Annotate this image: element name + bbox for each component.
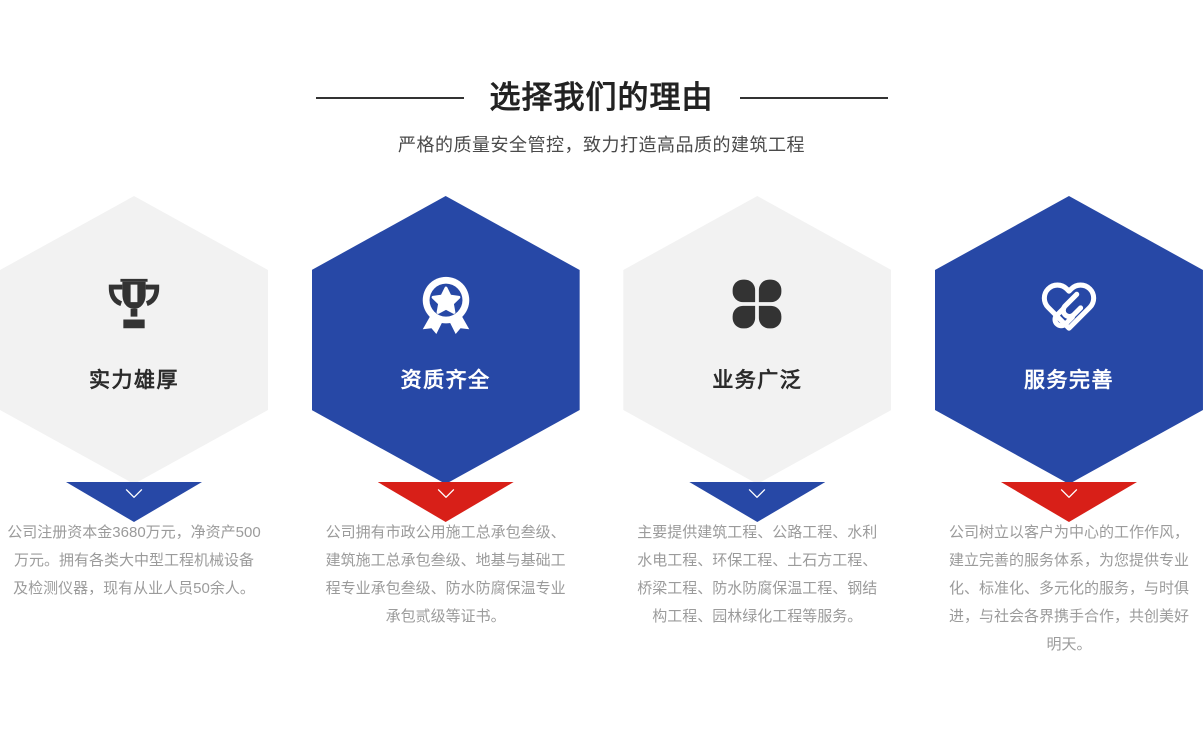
hexagon-wrapper-4: 服务完善: [935, 196, 1203, 484]
hexagon-wrapper-1: 实力雄厚: [0, 196, 268, 484]
title-rule-left: [316, 97, 464, 99]
chevron-down-icon: [747, 487, 767, 501]
feature-card-label: 资质齐全: [401, 364, 491, 394]
chevron-down-icon: [436, 487, 456, 501]
section-header: 选择我们的理由 严格的质量安全管控，致力打造高品质的建筑工程: [0, 74, 1203, 157]
feature-card-list: 实力雄厚: [0, 196, 1203, 484]
hexagon-wrapper-3: 业务广泛: [623, 196, 891, 484]
feature-card-label: 服务完善: [1024, 364, 1114, 394]
chevron-down-icon: [1059, 487, 1079, 501]
chevron-down-icon: [124, 487, 144, 501]
feature-description-4: 公司树立以客户为中心的工作作风，建立完善的服务体系，为您提供专业化、标准化、多元…: [942, 519, 1196, 659]
feature-description-list: 公司注册资本金3680万元，净资产500万元。拥有各类大中型工程机械设备及检测仪…: [0, 519, 1203, 659]
feature-description-3: 主要提供建筑工程、公路工程、水利水电工程、环保工程、土石方工程、桥梁工程、防水防…: [630, 519, 884, 631]
medal-star-icon: [400, 258, 492, 350]
feature-description-1: 公司注册资本金3680万元，净资产500万元。拥有各类大中型工程机械设备及检测仪…: [7, 519, 261, 603]
feature-description-2: 公司拥有市政公用施工总承包叁级、建筑施工总承包叁级、地基与基础工程专业承包叁级、…: [319, 519, 573, 631]
feature-card-2[interactable]: 资质齐全: [312, 196, 580, 484]
feature-card-3[interactable]: 业务广泛: [623, 196, 891, 484]
hexagon-1[interactable]: 实力雄厚: [0, 196, 268, 484]
clover-icon: [711, 258, 803, 350]
page-subtitle: 严格的质量安全管控，致力打造高品质的建筑工程: [0, 131, 1203, 157]
card-arrow-2[interactable]: [378, 482, 514, 522]
trophy-icon: [88, 258, 180, 350]
hexagon-3[interactable]: 业务广泛: [623, 196, 891, 484]
hexagon-4[interactable]: 服务完善: [935, 196, 1203, 484]
feature-card-1[interactable]: 实力雄厚: [0, 196, 268, 484]
feature-card-label: 实力雄厚: [89, 364, 179, 394]
card-arrow-1[interactable]: [66, 482, 202, 522]
card-arrow-4[interactable]: [1001, 482, 1137, 522]
hexagon-2[interactable]: 资质齐全: [312, 196, 580, 484]
title-row: 选择我们的理由: [0, 74, 1203, 122]
page-title: 选择我们的理由: [490, 74, 714, 122]
feature-card-4[interactable]: 服务完善: [935, 196, 1203, 484]
hexagon-wrapper-2: 资质齐全: [312, 196, 580, 484]
title-rule-right: [740, 97, 888, 99]
card-arrow-3[interactable]: [689, 482, 825, 522]
feature-card-label: 业务广泛: [712, 364, 802, 394]
heart-link-icon: [1023, 258, 1115, 350]
